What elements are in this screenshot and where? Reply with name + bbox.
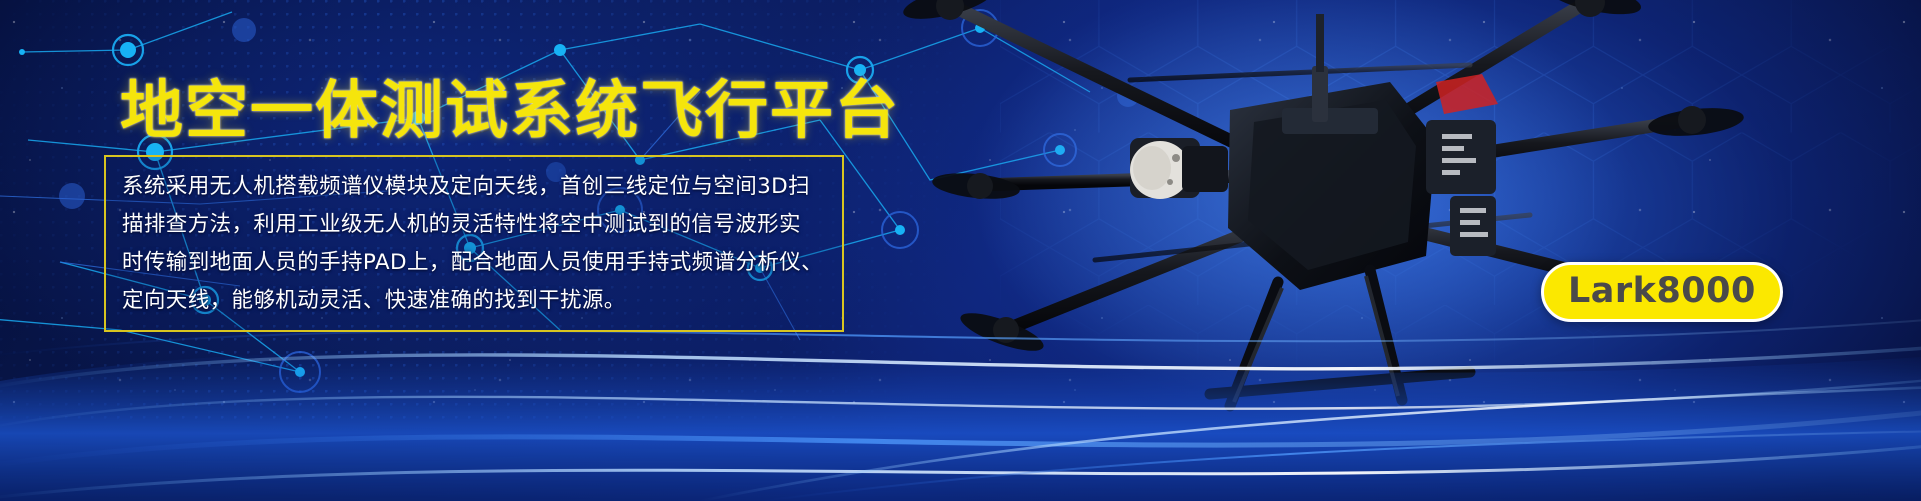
model-badge: Lark8000 xyxy=(1541,262,1783,322)
description-line: 定向天线，能够机动灵活、快速准确的找到干扰源。 xyxy=(122,282,828,320)
description-line: 系统采用无人机搭载频谱仪模块及定向天线，首创三线定位与空间3D扫 xyxy=(122,168,828,206)
description-box: 系统采用无人机搭载频谱仪模块及定向天线，首创三线定位与空间3D扫 描排查方法，利… xyxy=(104,155,844,332)
description-line: 描排查方法，利用工业级无人机的灵活特性将空中测试到的信号波形实 xyxy=(122,206,828,244)
product-banner: 地空一体测试系统飞行平台 系统采用无人机搭载频谱仪模块及定向天线，首创三线定位与… xyxy=(0,0,1921,501)
page-title: 地空一体测试系统飞行平台 xyxy=(120,78,900,144)
description-line: 时传输到地面人员的手持PAD上，配合地面人员使用手持式频谱分析仪、 xyxy=(122,244,828,282)
